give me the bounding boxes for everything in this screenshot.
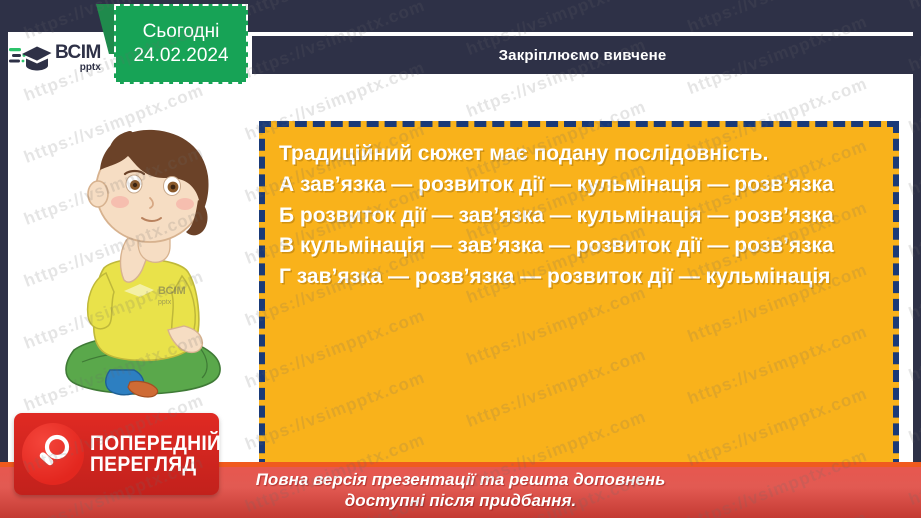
slide-root: ВСІМ pptx Сьогодні 24.02.2024 Закріплюєм… [0, 0, 921, 518]
brand-sub: pptx [55, 63, 101, 73]
graduation-cap-icon [8, 41, 52, 75]
purchase-notice-line1: Повна версія презентації та решта доповн… [256, 469, 666, 490]
thinking-boy-illustration: ВСІМ pptx [22, 118, 252, 418]
answer-option-a[interactable]: А зав’язка — розвиток дії — кульмінація … [279, 170, 879, 200]
brand-text: ВСІМ pptx [55, 43, 101, 73]
header-title-bar: Закріплюємо вивчене [252, 36, 913, 74]
question-card-body: Традиційний сюжет має подану послідовніс… [265, 127, 893, 292]
page-title: Закріплюємо вивчене [499, 47, 667, 64]
watermark-text: https://vsimpptx.com [906, 0, 921, 13]
brand-name: ВСІМ [55, 43, 101, 62]
watermark-text: https://vsimpptx.com [242, 0, 427, 20]
date-badge-label: Сьогодні [143, 22, 220, 42]
preview-badge-line1: ПОПЕРЕДНІЙ [90, 433, 221, 454]
preview-badge-text: ПОПЕРЕДНІЙ ПЕРЕГЛЯД [90, 433, 233, 475]
preview-badge-line2: ПЕРЕГЛЯД [90, 454, 221, 475]
answer-option-v[interactable]: В кульмінація — зав’язка — розвиток дії … [279, 231, 879, 261]
preview-badge: ПОПЕРЕДНІЙ ПЕРЕГЛЯД [14, 413, 219, 495]
question-prompt: Традиційний сюжет має подану послідовніс… [279, 139, 879, 169]
answer-option-b[interactable]: Б розвиток дії — зав’язка — кульмінація … [279, 201, 879, 231]
answer-option-g[interactable]: Г зав’язка — розв’язка — розвиток дії — … [279, 262, 879, 292]
date-badge: Сьогодні 24.02.2024 [114, 4, 248, 84]
svg-text:ВСІМ: ВСІМ [158, 285, 186, 297]
brand-logo: ВСІМ pptx [8, 34, 113, 82]
question-card: Традиційний сюжет має подану послідовніс… [259, 121, 899, 471]
magnifier-icon [22, 423, 84, 485]
watermark-text: https://vsimpptx.com [685, 0, 870, 36]
date-badge-date: 24.02.2024 [133, 46, 228, 66]
svg-text:pptx: pptx [158, 299, 172, 306]
purchase-notice-line2: доступні після придбання. [345, 490, 576, 511]
